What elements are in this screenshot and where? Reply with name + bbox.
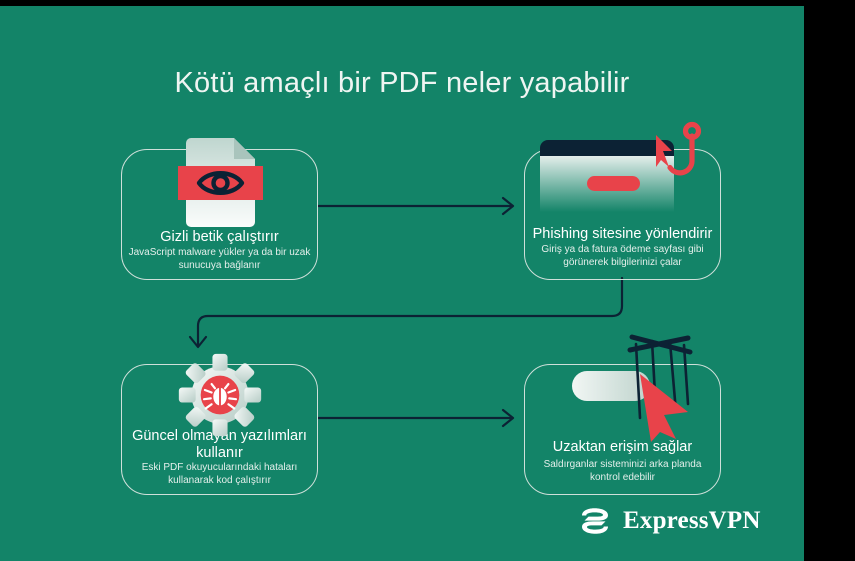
card-subtitle: JavaScript malware yükler ya da bir uzak… xyxy=(122,247,317,272)
gear-bug-icon xyxy=(178,353,262,437)
puppet-cursor-icon xyxy=(548,332,698,442)
card-subtitle: Saldırganlar sisteminizi arka planda kon… xyxy=(525,459,720,484)
page-title: Kötü amaçlı bir PDF neler yapabilir xyxy=(0,66,804,100)
arrow-card3-to-card4 xyxy=(318,410,513,426)
screenshot-stage: Kötü amaçlı bir PDF neler yapabilir xyxy=(0,0,855,561)
arrow-card1-to-card2 xyxy=(318,198,513,214)
browser-hook-icon xyxy=(532,122,712,212)
card-subtitle: Eski PDF okuyucularındaki hataları kulla… xyxy=(122,462,317,487)
infographic-canvas: Kötü amaçlı bir PDF neler yapabilir xyxy=(0,6,804,561)
card-subtitle: Giriş ya da fatura ödeme sayfası gibi gö… xyxy=(525,244,720,269)
expressvpn-logo[interactable]: ExpressVPN xyxy=(578,504,761,538)
document-eye-icon xyxy=(182,133,259,227)
expressvpn-e-icon xyxy=(578,504,612,538)
card-title: Phishing sitesine yönlendirir xyxy=(525,226,720,243)
card-title: Gizli betik çalıştırır xyxy=(122,229,317,246)
expressvpn-wordmark: ExpressVPN xyxy=(623,507,761,535)
